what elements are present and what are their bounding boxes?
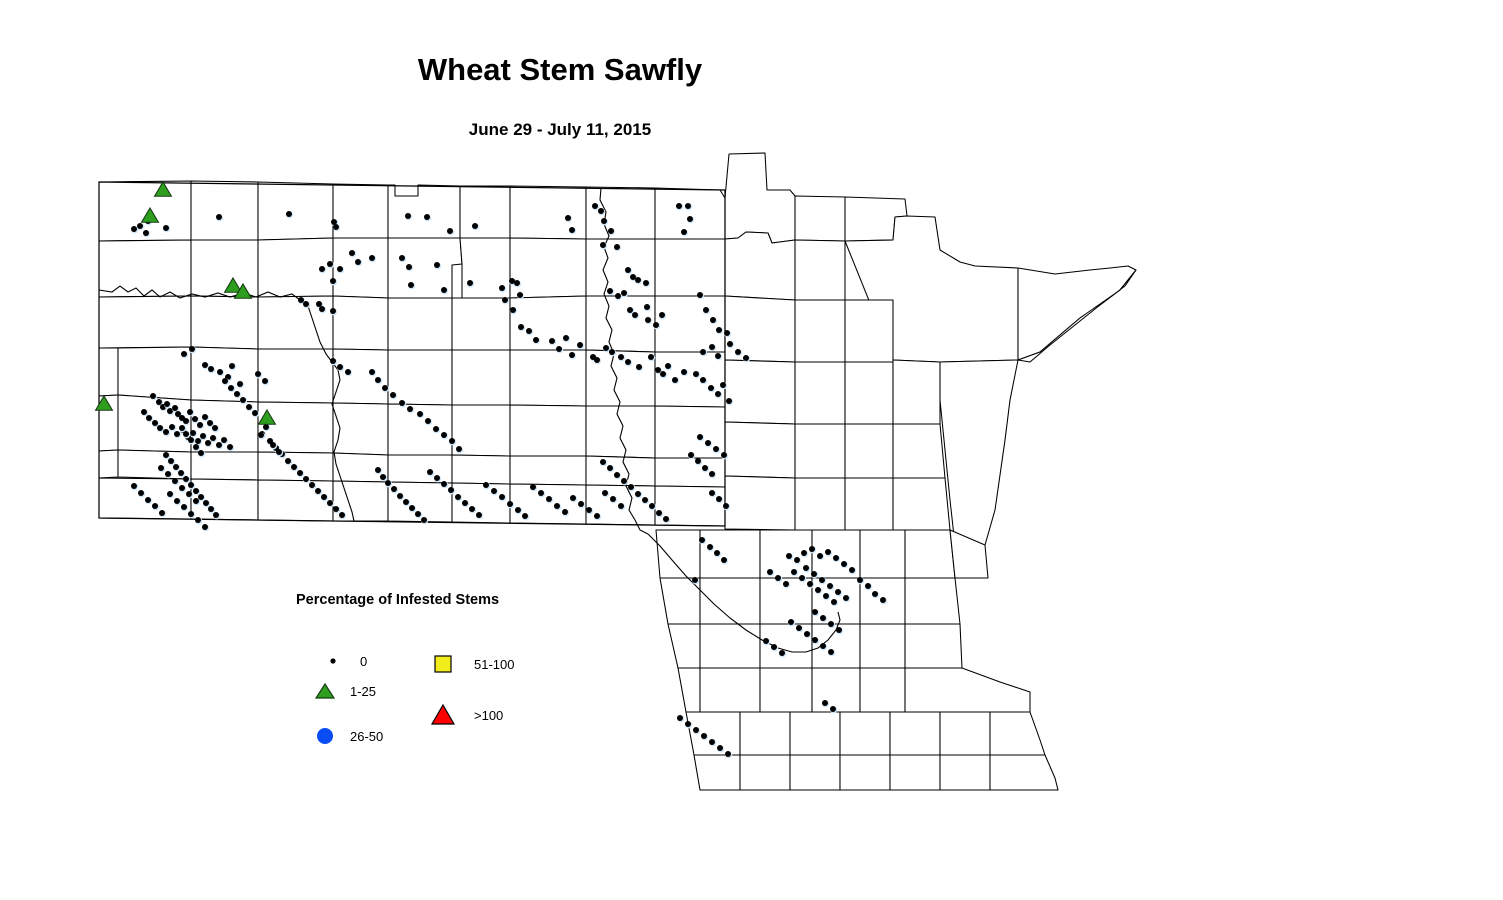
green-triangle-icon bbox=[310, 676, 340, 706]
legend-title: Percentage of Infested Stems bbox=[296, 592, 499, 608]
north-dakota-counties bbox=[99, 181, 725, 526]
legend-label-51-100: 51-100 bbox=[474, 657, 514, 672]
legend-label-over-100: >100 bbox=[474, 708, 503, 723]
legend-entry-26-50: 26-50 bbox=[310, 721, 383, 751]
red-triangle-icon bbox=[428, 700, 458, 730]
yellow-square-icon bbox=[428, 649, 458, 679]
data-point-0 bbox=[202, 524, 209, 531]
data-point-0 bbox=[677, 715, 684, 722]
minnesota-counties bbox=[656, 153, 1136, 790]
legend-label-26-50: 26-50 bbox=[350, 729, 383, 744]
legend-entry-over-100: >100 bbox=[428, 700, 503, 730]
legend-label-1-25: 1-25 bbox=[350, 684, 376, 699]
legend-label-0: 0 bbox=[360, 654, 367, 669]
small-black-dot-icon bbox=[318, 646, 348, 676]
map-canvas bbox=[0, 0, 1503, 900]
legend-entry-1-25: 1-25 bbox=[310, 676, 376, 706]
legend-entry-51-100: 51-100 bbox=[428, 649, 514, 679]
legend: Percentage of Infested Stems 0 1-25 26-5… bbox=[296, 592, 596, 757]
map-page: Wheat Stem Sawfly June 29 - July 11, 201… bbox=[0, 0, 1503, 900]
legend-entry-0: 0 bbox=[318, 646, 367, 676]
map-svg bbox=[0, 0, 1503, 900]
blue-circle-icon bbox=[310, 721, 340, 751]
